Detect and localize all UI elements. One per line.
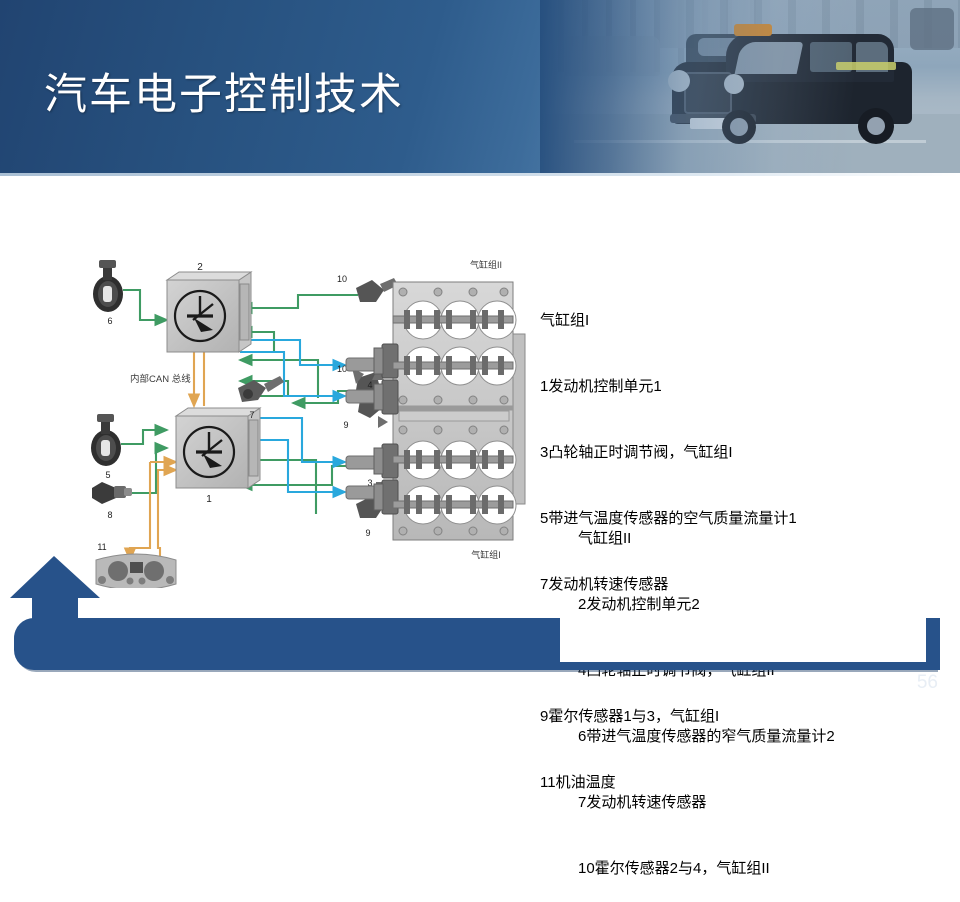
- callout-9-a: 9: [343, 420, 348, 430]
- up-arrow-icon: [10, 556, 112, 676]
- slide-header: 汽车电子控制技术: [0, 0, 960, 176]
- page-number: 56: [917, 672, 938, 694]
- page-title: 汽车电子控制技术: [44, 60, 404, 122]
- bottom-bar-notch: [560, 618, 926, 662]
- legend-bank-1-heading: 气缸组I: [540, 310, 797, 332]
- callout-10-a: 10: [337, 274, 347, 284]
- header-divider: [0, 173, 960, 176]
- legend-item: 10霍尔传感器2与4，气缸组II: [578, 858, 835, 880]
- ecu-bottom: 1: [176, 408, 260, 505]
- callout-6: 6: [107, 316, 112, 326]
- callout-7: 7: [249, 410, 254, 420]
- hall-sensor-10-upper: 10: [337, 274, 398, 302]
- legend-bank-2-heading: 气缸组II: [578, 528, 835, 550]
- callout-11: 11: [97, 542, 106, 552]
- legend-item: 6带进气温度传感器的窄气质量流量计2: [578, 726, 835, 748]
- head-label-top: 气缸组II: [470, 259, 502, 270]
- legend-item: 3凸轮轴正时调节阀，气缸组I: [540, 442, 797, 464]
- air-mass-meter-6: 6: [93, 260, 123, 326]
- callout-5: 5: [105, 470, 110, 480]
- callout-9-b: 9: [365, 528, 370, 538]
- callout-8: 8: [107, 510, 112, 520]
- legend-item: 7发动机转速传感器: [578, 792, 835, 814]
- callout-2: 2: [197, 262, 203, 273]
- legend-item: 1发动机控制单元1: [540, 376, 797, 398]
- callout-4: 4: [367, 380, 372, 390]
- ecu-top: 2: [167, 262, 251, 352]
- bottom-decoration: [0, 556, 960, 720]
- timing-management-diagram: 2 1 内部CAN 总线 6 5 8: [88, 248, 528, 588]
- can-bus-label: 内部CAN 总线: [130, 373, 191, 385]
- cylinder-head-assembly: [374, 282, 525, 540]
- temperature-sensor-8: 8: [92, 482, 132, 520]
- air-mass-meter-5: 5: [91, 414, 121, 480]
- callout-1: 1: [206, 494, 212, 505]
